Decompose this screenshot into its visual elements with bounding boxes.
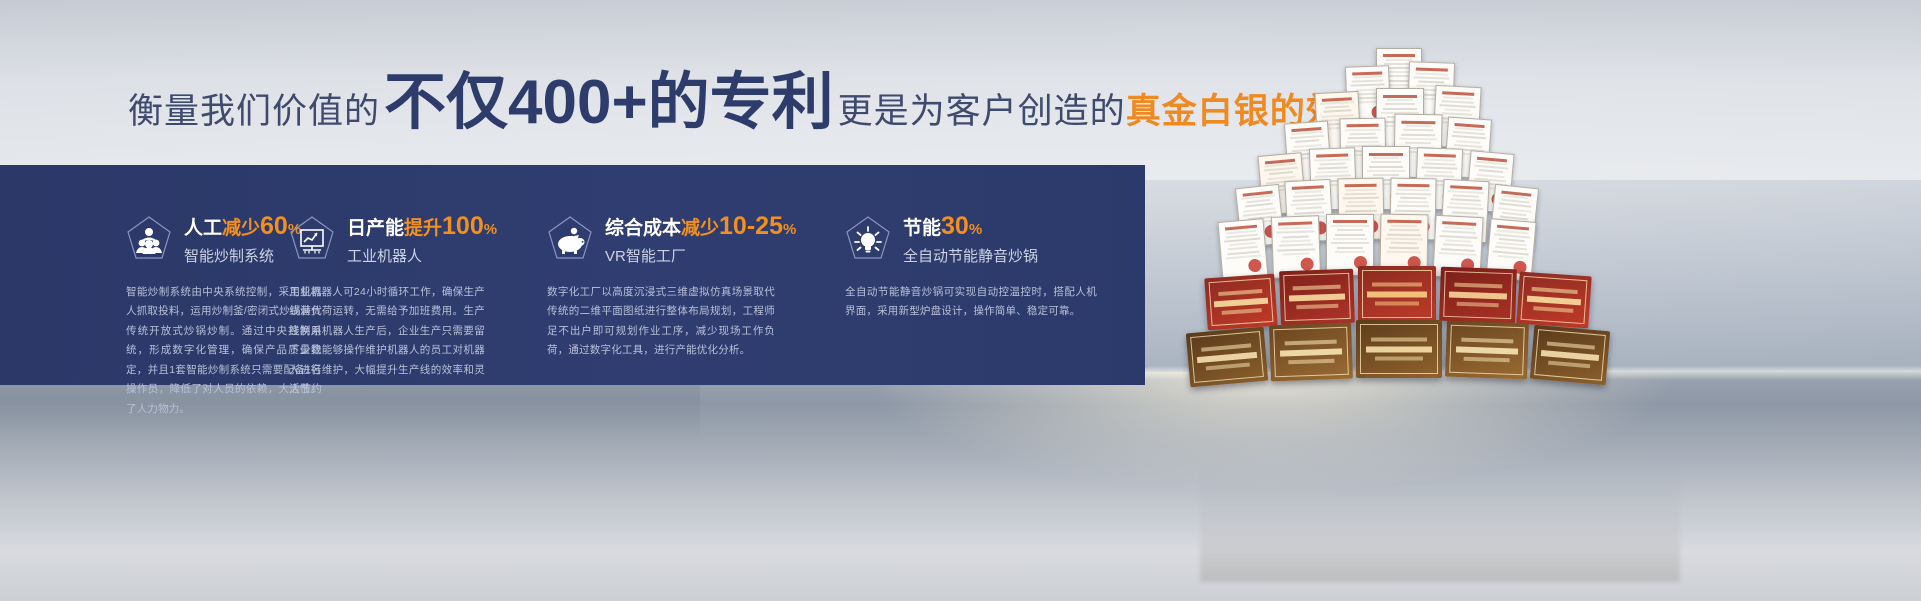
feature-column-1: 人工减少60% 智能炒制系统 智能炒制系统由中央系统控制，采用机器人抓取投料，运…	[0, 165, 275, 385]
chart-board-icon	[289, 215, 335, 263]
piggy-bank-icon	[547, 215, 593, 263]
feature-columns: 人工减少60% 智能炒制系统 智能炒制系统由中央系统控制，采用机器人抓取投料，运…	[0, 165, 1145, 385]
feature-2-text: 日产能提升100% 工业机器人	[347, 212, 497, 266]
award-plaque	[1356, 320, 1442, 378]
feature-4-subtitle: 全自动节能静音炒锅	[903, 245, 1038, 266]
feature-3-title-accent: 减少	[681, 218, 719, 239]
feature-2-title-prefix: 日产能	[347, 218, 404, 239]
headline-middle: 更是为客户创造的	[838, 83, 1126, 134]
feature-4-title-unit: %	[969, 221, 982, 238]
people-icon	[126, 215, 172, 263]
feature-3-title-value: 10-25	[719, 212, 783, 240]
award-plaque	[1530, 325, 1610, 385]
plaque-reflection	[1200, 462, 1680, 582]
feature-3-text: 综合成本减少10-25% VR智能工厂	[605, 212, 796, 266]
feature-3-title: 综合成本减少10-25%	[605, 212, 796, 241]
feature-3-header: 综合成本减少10-25% VR智能工厂	[547, 213, 835, 265]
award-plaque	[1516, 272, 1591, 329]
feature-1-title-accent: 减少	[222, 218, 260, 239]
feature-3-title-prefix: 综合成本	[605, 218, 681, 239]
feature-4-title-accent: 节能	[903, 218, 941, 239]
feature-1-header: 人工减少60% 智能炒制系统	[126, 213, 275, 265]
feature-1-title-prefix: 人工	[184, 218, 222, 239]
award-plaque	[1186, 327, 1268, 388]
feature-4-title: 节能30%	[903, 212, 1038, 241]
feature-4-header: 节能30% 全自动节能静音炒锅	[845, 213, 1145, 265]
award-plaque	[1279, 269, 1355, 326]
feature-column-3: 综合成本减少10-25% VR智能工厂 数字化工厂以高度沉浸式三维虚拟仿真场景取…	[535, 165, 835, 385]
lightbulb-icon	[845, 215, 891, 263]
feature-4-title-value: 30	[941, 212, 969, 240]
feature-4-text: 节能30% 全自动节能静音炒锅	[903, 212, 1038, 266]
headline-emphasis: 不仅400+的专利	[384, 72, 834, 134]
feature-2-title-unit: %	[484, 221, 497, 238]
award-plaque	[1358, 266, 1436, 322]
feature-2-header: 日产能提升100% 工业机器人	[289, 213, 535, 265]
feature-column-4: 节能30% 全自动节能静音炒锅 全自动节能静音炒锅可实现自动控温控时，搭配人机界…	[835, 165, 1145, 385]
banner-stage: 衡量我们价值的 不仅400+的专利 更是为客户创造的 真金白银的效益	[0, 0, 1921, 601]
award-plaque	[1439, 267, 1517, 324]
feature-3-body: 数字化工厂以高度沉浸式三维虚拟仿真场景取代传统的二维平面图纸进行整体布局规划，工…	[547, 283, 775, 361]
feature-2-title: 日产能提升100%	[347, 212, 497, 241]
feature-3-subtitle: VR智能工厂	[605, 245, 796, 266]
feature-2-subtitle: 工业机器人	[347, 245, 497, 266]
feature-3-title-unit: %	[783, 221, 796, 238]
feature-2-title-value: 100	[442, 212, 484, 240]
feature-2-body: 工业机器人可24小时循环工作，确保生产线满负荷运转，无需给予加班费用。生产线换用…	[289, 283, 485, 400]
feature-4-body: 全自动节能静音炒锅可实现自动控温控时，搭配人机界面，采用新型炉盘设计，操作简单、…	[845, 283, 1097, 322]
feature-column-2: 日产能提升100% 工业机器人 工业机器人可24小时循环工作，确保生产线满负荷运…	[275, 165, 535, 385]
award-plaque	[1204, 274, 1277, 331]
award-plaque	[1269, 323, 1353, 382]
certificate-and-award-plaque-stack	[1180, 48, 1700, 468]
certificate-document	[1217, 218, 1268, 282]
feature-2-title-accent: 提升	[404, 218, 442, 239]
headline-prefix: 衡量我们价值的	[128, 83, 380, 134]
award-plaque	[1445, 321, 1529, 380]
